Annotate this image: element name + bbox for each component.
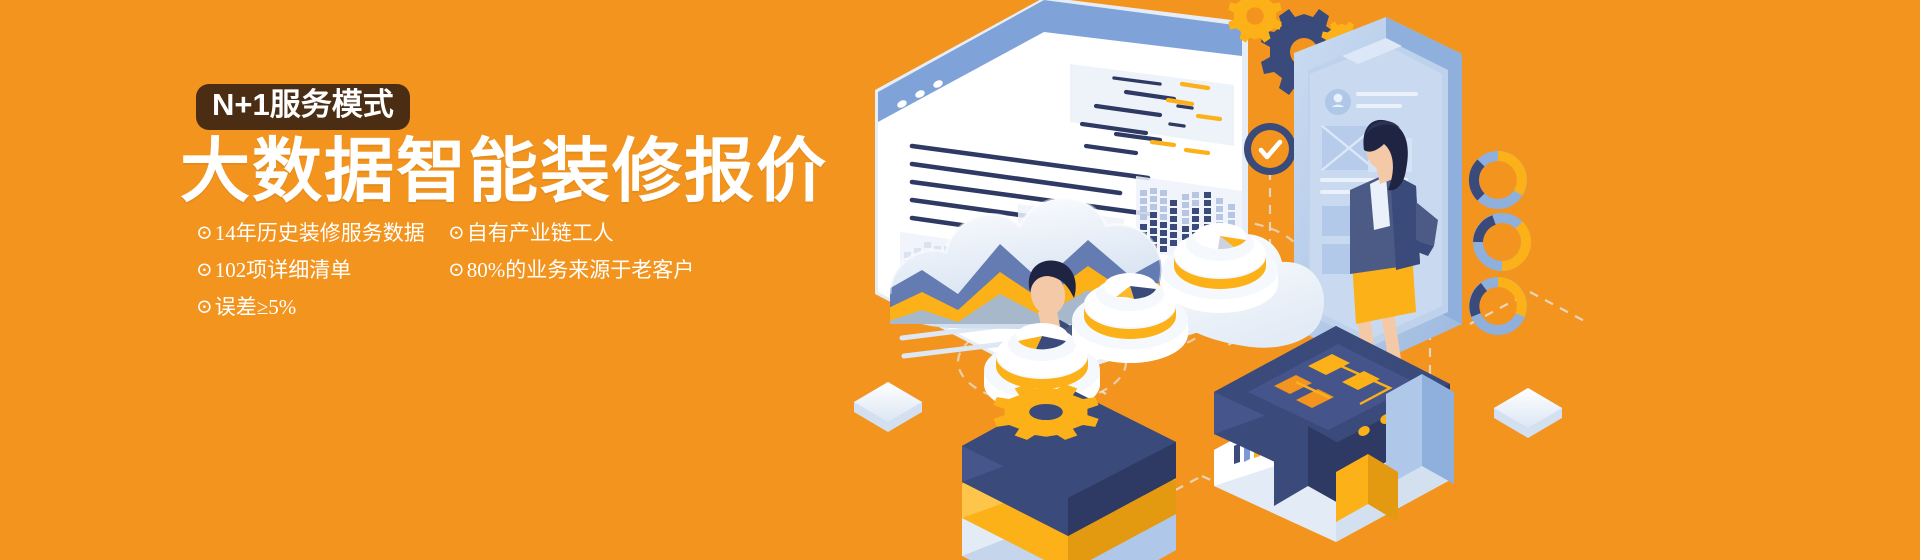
feature-item: ⊙ 80%的业务来源于老客户: [448, 259, 748, 281]
feature-item-label: 误差≥5%: [215, 296, 297, 318]
service-mode-badge: N+1服务模式: [196, 84, 410, 130]
gear-database-block: [962, 384, 1176, 560]
feature-row: ⊙ 14年历史装修服务数据 ⊙ 自有产业链工人: [196, 222, 816, 259]
circle-dot-icon: ⊙: [196, 223, 213, 243]
feature-item-label: 102项详细清单: [215, 259, 352, 281]
feature-item: ⊙ 自有产业链工人: [448, 222, 748, 244]
promo-banner: N+1服务模式 大数据智能装修报价 ⊙ 14年历史装修服务数据 ⊙ 自有产业链工…: [0, 0, 1920, 560]
feature-col-left: ⊙ 14年历史装修服务数据: [196, 222, 448, 244]
donut-ring-chart: [1474, 156, 1526, 330]
feature-row: ⊙ 102项详细清单 ⊙ 80%的业务来源于老客户: [196, 259, 816, 296]
isometric-illustration: [830, 0, 1920, 560]
feature-col-left: ⊙ 102项详细清单: [196, 259, 448, 281]
circle-dot-icon: ⊙: [196, 260, 213, 280]
feature-col-left: ⊙ 误差≥5%: [196, 296, 448, 318]
circle-dot-icon: ⊙: [196, 297, 213, 317]
feature-col-right: ⊙ 自有产业链工人: [448, 222, 748, 244]
feature-item: ⊙ 误差≥5%: [196, 296, 448, 318]
feature-list: ⊙ 14年历史装修服务数据 ⊙ 自有产业链工人 ⊙ 102项详细清单: [196, 222, 816, 333]
feature-item: ⊙ 102项详细清单: [196, 259, 448, 281]
circle-dot-icon: ⊙: [448, 223, 465, 243]
banner-headline: 大数据智能装修报价: [180, 134, 828, 210]
feature-col-right: ⊙ 80%的业务来源于老客户: [448, 259, 748, 281]
feature-item-label: 80%的业务来源于老客户: [467, 259, 695, 281]
feature-item: ⊙ 14年历史装修服务数据: [196, 222, 448, 244]
feature-row: ⊙ 误差≥5%: [196, 296, 816, 333]
floating-tiles: [854, 382, 1562, 560]
service-mode-badge-label: N+1服务模式: [212, 89, 394, 122]
feature-item-label: 自有产业链工人: [467, 222, 614, 244]
check-badge-icon: [1244, 123, 1296, 175]
feature-item-label: 14年历史装修服务数据: [215, 222, 425, 244]
banner-copy-block: N+1服务模式 大数据智能装修报价 ⊙ 14年历史装修服务数据 ⊙ 自有产业链工…: [0, 0, 900, 560]
circle-dot-icon: ⊙: [448, 260, 465, 280]
